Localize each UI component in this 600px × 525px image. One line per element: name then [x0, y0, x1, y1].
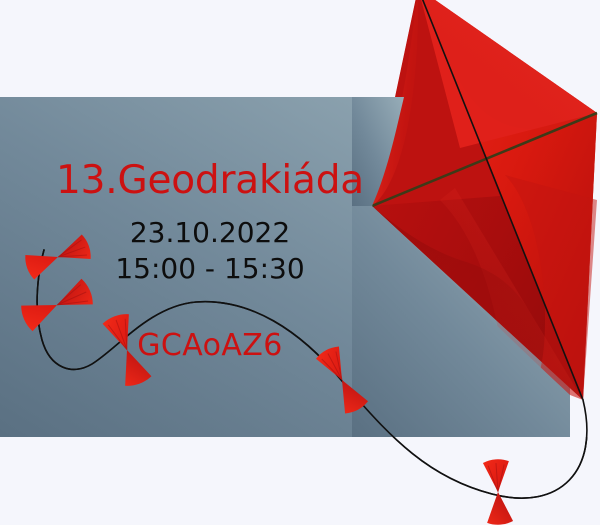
kite-event-poster: 13.Geodrakiáda 23.10.2022 15:00 - 15:30 …: [0, 0, 600, 525]
tail-bowtie-5: [483, 458, 514, 525]
kite-lower-right-mask-sky: [570, 395, 600, 437]
poster-artwork: [0, 0, 600, 525]
